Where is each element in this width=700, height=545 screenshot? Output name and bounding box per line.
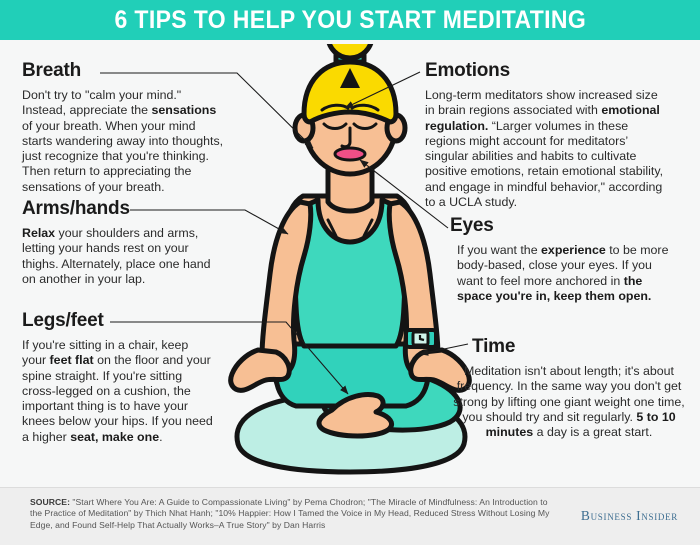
callout-body-time: Meditation isn't about length; it's abou… [450, 364, 688, 440]
callout-arms-hands: Arms/hands Relax your shoulders and arms… [22, 198, 212, 287]
callout-body-emotions: Long-term meditators show increased size… [425, 88, 670, 210]
business-insider-logo: Business Insider [581, 508, 678, 524]
callout-body-eyes: If you want the experience to be more bo… [457, 243, 678, 304]
callout-time: Time Meditation isn't about length; it's… [450, 336, 688, 440]
callout-title-eyes: Eyes [450, 215, 678, 237]
callout-emotions: Emotions Long-term meditators show incre… [425, 60, 670, 210]
header-banner: 6 TIPS TO HELP YOU START MEDITATING [0, 0, 700, 40]
callout-eyes: Eyes If you want the experience to be mo… [450, 215, 678, 304]
lips [335, 148, 365, 160]
callout-legs-feet: Legs/feet If you're sitting in a chair, … [22, 310, 214, 445]
wrist-watch [406, 330, 436, 347]
source-label: SOURCE: [30, 497, 70, 507]
callout-body-legs: If you're sitting in a chair, keep your … [22, 338, 214, 445]
callout-breath: Breath Don't try to "calm your mind." In… [22, 60, 227, 195]
callout-body-breath: Don't try to "calm your mind." Instead, … [22, 88, 227, 195]
callout-title-time: Time [472, 336, 688, 358]
page-title: 6 TIPS TO HELP YOU START MEDITATING [114, 6, 586, 35]
callout-title-breath: Breath [22, 60, 227, 82]
infographic-root: 6 TIPS TO HELP YOU START MEDITATING [0, 0, 700, 545]
source-note: SOURCE: "Start Where You Are: A Guide to… [30, 497, 550, 531]
callout-body-arms: Relax your shoulders and arms, letting y… [22, 226, 212, 287]
callout-title-arms: Arms/hands [22, 198, 212, 220]
callout-title-emotions: Emotions [425, 60, 670, 82]
source-text: "Start Where You Are: A Guide to Compass… [30, 497, 549, 530]
callout-title-legs: Legs/feet [22, 310, 214, 332]
